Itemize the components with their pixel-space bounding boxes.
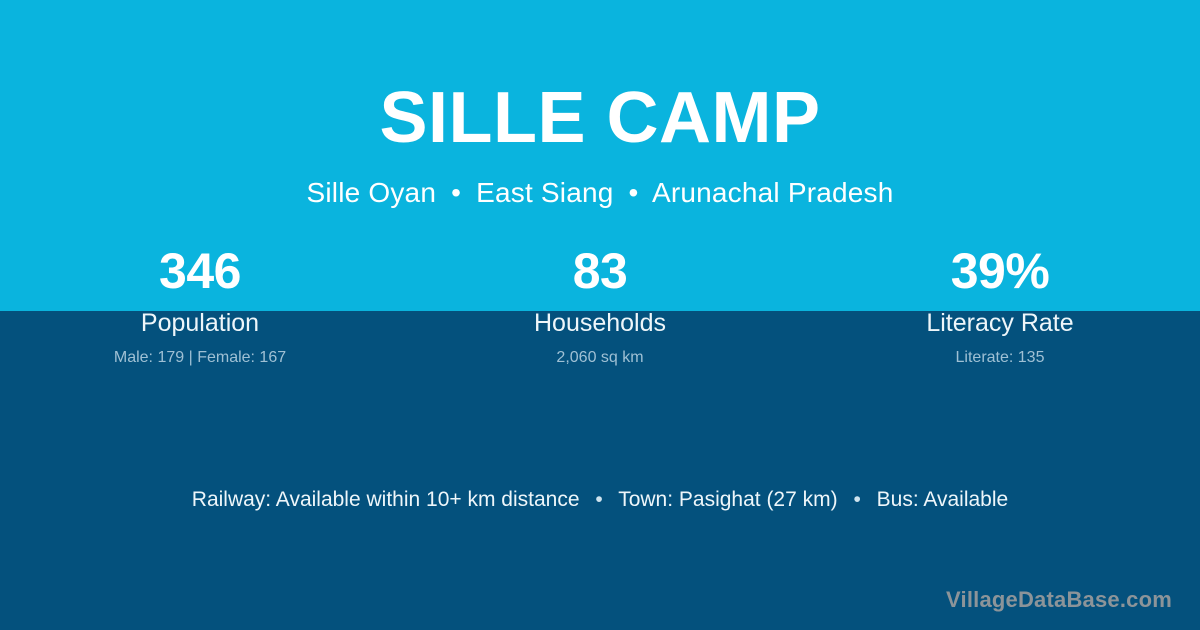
stat-value: 39% [800,240,1200,302]
breadcrumb-item-state: Arunachal Pradesh [652,177,894,208]
stats-row: 346 Population Male: 179 | Female: 167 8… [0,240,1200,368]
stat-value: 83 [400,240,800,302]
stat-label: Literacy Rate [800,308,1200,338]
breadcrumb: Sille Oyan • East Siang • Arunachal Prad… [0,178,1200,209]
breadcrumb-item-village: Sille Oyan [306,177,436,208]
breadcrumb-item-district: East Siang [476,177,613,208]
stat-population: 346 Population Male: 179 | Female: 167 [0,240,400,368]
stat-label: Population [0,308,400,338]
breadcrumb-separator: • [444,177,468,208]
infrastructure-summary: Railway: Available within 10+ km distanc… [0,485,1200,515]
breadcrumb-separator: • [622,177,646,208]
stat-subtext: Male: 179 | Female: 167 [0,348,400,368]
page-title: SILLE CAMP [0,82,1200,154]
stat-value: 346 [0,240,400,302]
stat-subtext: 2,060 sq km [400,348,800,368]
infra-item-town: Town: Pasighat (27 km) [618,488,837,511]
stat-households: 83 Households 2,060 sq km [400,240,800,368]
infra-item-bus: Bus: Available [877,488,1009,511]
village-info-card: SILLE CAMP Sille Oyan • East Siang • Aru… [0,0,1200,630]
stat-literacy-rate: 39% Literacy Rate Literate: 135 [800,240,1200,368]
card-header: SILLE CAMP Sille Oyan • East Siang • Aru… [0,0,1200,209]
stat-label: Households [400,308,800,338]
infra-item-railway: Railway: Available within 10+ km distanc… [192,488,580,511]
stat-subtext: Literate: 135 [800,348,1200,368]
infra-separator: • [585,488,612,511]
site-watermark: VillageDataBase.com [946,587,1172,613]
infra-separator: • [843,488,870,511]
